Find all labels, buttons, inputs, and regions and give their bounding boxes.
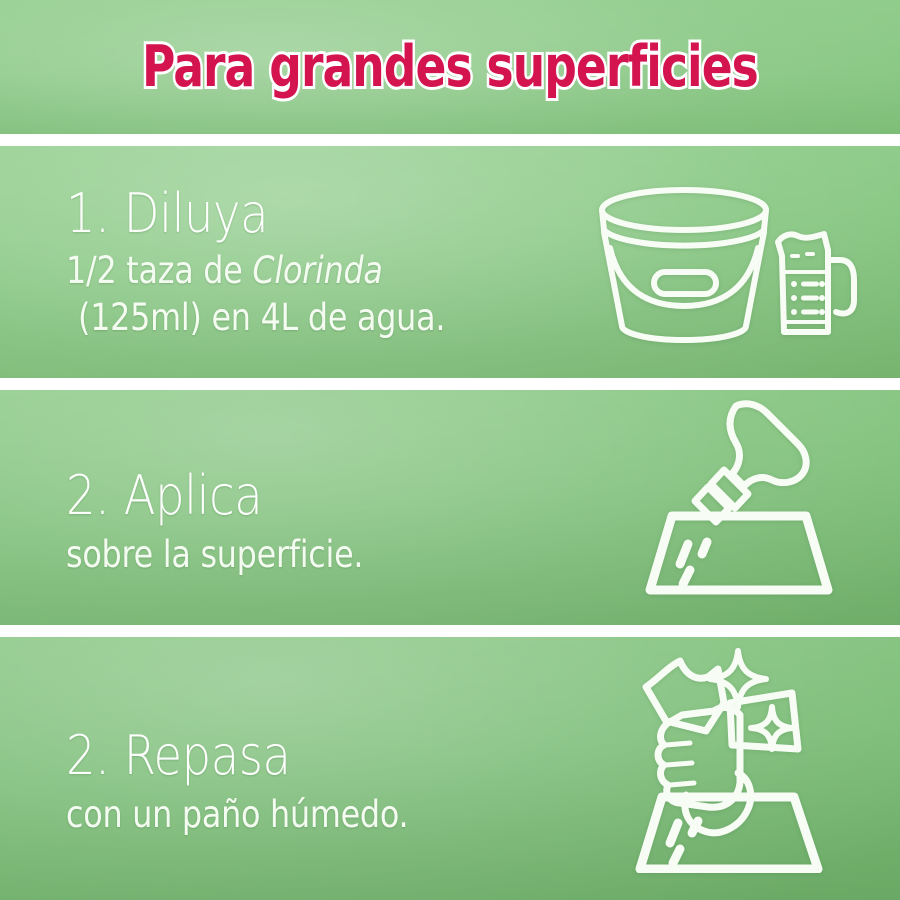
step-1-description-line-2: (125ml) en 4L de agua. — [66, 294, 445, 341]
step-3-text-block: 2. Repasa con un paño húmedo. — [66, 728, 464, 838]
title-container: Para grandes superficies — [0, 0, 900, 134]
step-2-description: sobre la superficie. — [66, 531, 363, 578]
step-1-description: 1/2 taza de Clorinda (125ml) en 4L de ag… — [66, 247, 445, 342]
bucket-and-measuring-cup-icon — [592, 186, 860, 356]
step-1-text-block: 1. Diluya 1/2 taza de Clorinda (125ml) e… — [66, 186, 507, 342]
page-title-text: Para grandes superficies — [142, 34, 758, 100]
step-1-description-line-1: 1/2 taza de Clorinda — [66, 247, 445, 294]
step-1-description-prefix: 1/2 taza de — [66, 249, 252, 292]
page-title: Para grandes superficies — [142, 39, 758, 96]
bottle-pouring-on-surface-icon — [628, 398, 848, 608]
step-3-description: con un paño húmedo. — [66, 791, 408, 838]
step-1-brand-name: Clorinda — [252, 249, 382, 292]
step-3-heading: 2. Repasa — [66, 728, 408, 783]
hand-with-cloth-sparkle-icon — [622, 645, 854, 878]
step-1-heading: 1. Diluya — [66, 186, 445, 241]
step-2-heading: 2. Aplica — [66, 468, 363, 523]
step-2-text-block: 2. Aplica sobre la superficie. — [66, 468, 412, 578]
instructions-poster: Para grandes superficies 1. Diluya 1/2 t… — [0, 0, 900, 900]
